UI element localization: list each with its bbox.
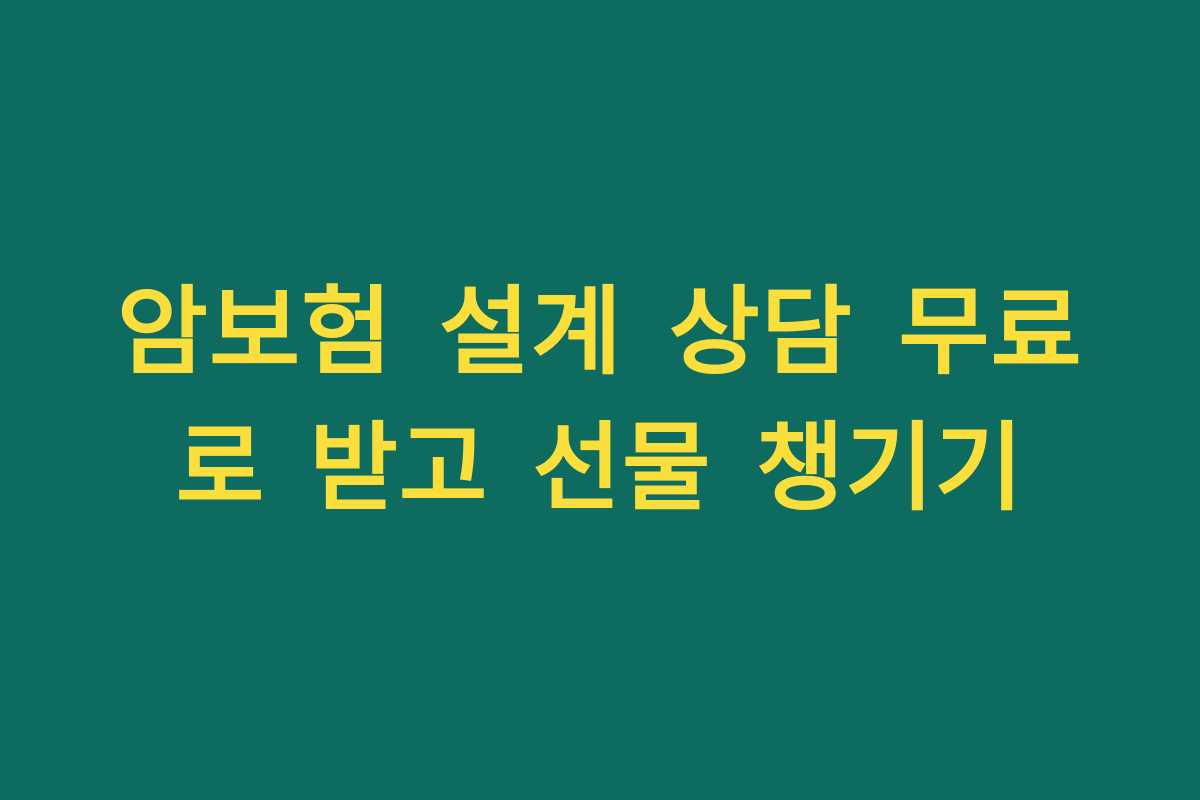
headline-line-1: 암보험 설계 상담 무료 [117,264,1083,400]
promo-banner: 암보험 설계 상담 무료 로 받고 선물 챙기기 [0,0,1200,800]
headline-line-2: 로 받고 선물 챙기기 [176,400,1024,536]
banner-headline: 암보험 설계 상담 무료 로 받고 선물 챙기기 [100,264,1100,537]
